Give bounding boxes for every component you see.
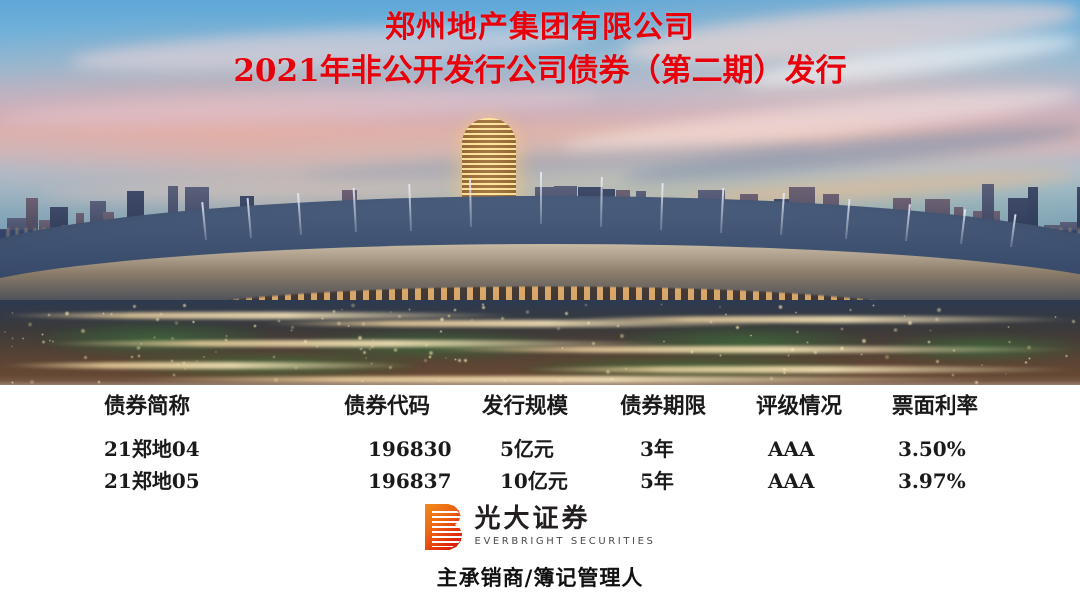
cell-scale: 10亿元	[500, 465, 568, 497]
bond-issuance-poster: 郑州地产集团有限公司 2021年非公开发行公司债券（第二期）发行 债券简称 债券…	[0, 0, 1080, 608]
everbright-b-mark-icon	[425, 504, 463, 550]
column-header-short-name: 债券简称	[104, 391, 190, 423]
plaza-light-point	[815, 369, 817, 371]
plaza-light-point	[272, 355, 276, 359]
plaza-light-point	[839, 346, 844, 351]
plaza-light-point	[137, 354, 141, 358]
plaza-light-point	[174, 320, 180, 326]
table-row: 21郑地04 196830 5亿元 3年 AAA 3.50%	[0, 433, 1080, 465]
plaza-light-point	[136, 345, 142, 351]
plaza-light-point	[447, 314, 450, 317]
everbright-securities-logo: 光大证券 EVERBRIGHT SECURITIES	[0, 504, 1080, 550]
plaza-light-point	[192, 320, 196, 324]
logo-text-block: 光大证券 EVERBRIGHT SECURITIES	[475, 505, 656, 549]
plaza-lawn	[40, 322, 270, 356]
road-light-trail	[560, 316, 1080, 323]
table-row: 21郑地05 196837 10亿元 5年 AAA 3.97%	[0, 465, 1080, 497]
cell-rating: AAA	[768, 433, 815, 465]
plaza-light-point	[170, 359, 174, 363]
b-mark-stripes	[432, 508, 463, 547]
plaza-light-point	[47, 313, 50, 316]
plaza-light-point	[586, 321, 590, 325]
roof-mast	[540, 172, 542, 224]
column-header-code: 债券代码	[344, 391, 430, 423]
plaza-light-point	[4, 331, 6, 333]
plaza-light-point	[1008, 340, 1012, 344]
plaza-light-point	[290, 325, 295, 330]
column-header-scale: 发行规模	[482, 391, 568, 423]
plaza-light-point	[813, 350, 818, 355]
plaza-light-point	[159, 312, 163, 316]
cell-rating: AAA	[768, 465, 815, 497]
road-light-trail	[520, 366, 1080, 373]
column-header-rating: 评级情况	[756, 391, 842, 423]
plaza-light-point	[884, 354, 890, 360]
plaza-light-point	[439, 317, 445, 323]
road-light-trail	[420, 346, 1080, 353]
plaza-light-point	[893, 327, 899, 333]
plaza-light-point	[849, 308, 853, 312]
plaza-light-point	[1026, 345, 1032, 351]
photo-bottom-fade	[0, 375, 1080, 385]
company-title: 郑州地产集团有限公司	[0, 8, 1080, 48]
plaza-light-point	[861, 338, 867, 344]
plaza-light-point	[390, 311, 392, 313]
plaza-light-point	[365, 357, 367, 359]
bond-summary-table: 债券简称 债券代码 发行规模 债券期限 评级情况 票面利率 21郑地04 196…	[0, 385, 1080, 500]
plaza-light-point	[454, 358, 457, 361]
underwriter-caption: 主承销商/簿记管理人	[0, 562, 1080, 592]
plaza-light-point	[907, 320, 913, 326]
plaza-light-point	[525, 309, 530, 314]
column-header-coupon: 票面利率	[892, 391, 978, 423]
column-header-term: 债券期限	[620, 391, 706, 423]
plaza-light-point	[341, 308, 343, 310]
plaza-light-point	[481, 305, 485, 309]
logo-name-en: EVERBRIGHT SECURITIES	[475, 535, 656, 549]
plaza-light-point	[1028, 357, 1031, 360]
cell-scale: 5亿元	[500, 433, 554, 465]
plaza-light-point	[11, 337, 14, 340]
plaza-light-point	[471, 319, 473, 321]
plaza-light-point	[1071, 319, 1076, 324]
cell-code: 196837	[368, 465, 452, 497]
plaza-light-point	[253, 324, 257, 328]
plaza-light-point	[1024, 361, 1028, 365]
plaza-light-point	[624, 367, 628, 371]
plaza-light-point	[481, 303, 484, 306]
plaza-light-point	[423, 358, 428, 363]
plaza-light-point	[778, 304, 784, 310]
poster-title-block: 郑州地产集团有限公司 2021年非公开发行公司债券（第二期）发行	[0, 8, 1080, 94]
cell-term: 3年	[640, 433, 674, 465]
plaza-light-point	[83, 355, 88, 360]
plaza-light-point	[303, 339, 308, 344]
cell-coupon: 3.97%	[898, 465, 966, 497]
plaza-light-point	[690, 350, 694, 354]
plaza-light-point	[294, 366, 298, 370]
plaza-light-point	[795, 311, 797, 313]
plaza-light-point	[872, 304, 874, 306]
plaza-light-point	[616, 324, 620, 328]
plaza-light-point	[936, 307, 941, 312]
plaza-light-point	[370, 362, 373, 365]
issuance-title: 2021年非公开发行公司债券（第二期）发行	[0, 48, 1080, 94]
plaza-light-point	[362, 350, 367, 355]
plaza-light-point	[64, 311, 70, 317]
cell-short-name: 21郑地04	[104, 433, 200, 465]
plaza-light-point	[170, 336, 175, 341]
plaza-light-point	[153, 336, 155, 338]
plaza-light-point	[735, 325, 740, 330]
plaza-light-point	[393, 347, 399, 353]
plaza-light-point	[1065, 354, 1069, 358]
logo-name-cn: 光大证券	[475, 505, 656, 533]
table-header-row: 债券简称 债券代码 发行规模 债券期限 评级情况 票面利率	[0, 391, 1080, 423]
plaza-light-point	[500, 316, 505, 321]
plaza-light-point	[357, 335, 363, 341]
plaza-light-point	[102, 312, 105, 315]
plaza-light-point	[663, 340, 666, 343]
plaza-light-point	[457, 358, 462, 363]
plaza-light-point	[903, 315, 906, 318]
cell-term: 5年	[640, 465, 674, 497]
plaza-light-point	[110, 312, 113, 315]
plaza-light-point	[1054, 316, 1056, 318]
plaza-light-point	[140, 343, 142, 345]
plaza-light-point	[336, 321, 341, 326]
cell-coupon: 3.50%	[898, 433, 966, 465]
plaza-light-point	[935, 359, 940, 364]
plaza-light-point	[564, 311, 569, 316]
cell-code: 196830	[368, 433, 452, 465]
plaza-light-point	[439, 330, 443, 334]
road-light-trail	[0, 362, 420, 369]
plaza-light-point	[796, 330, 800, 334]
cell-short-name: 21郑地05	[104, 465, 200, 497]
